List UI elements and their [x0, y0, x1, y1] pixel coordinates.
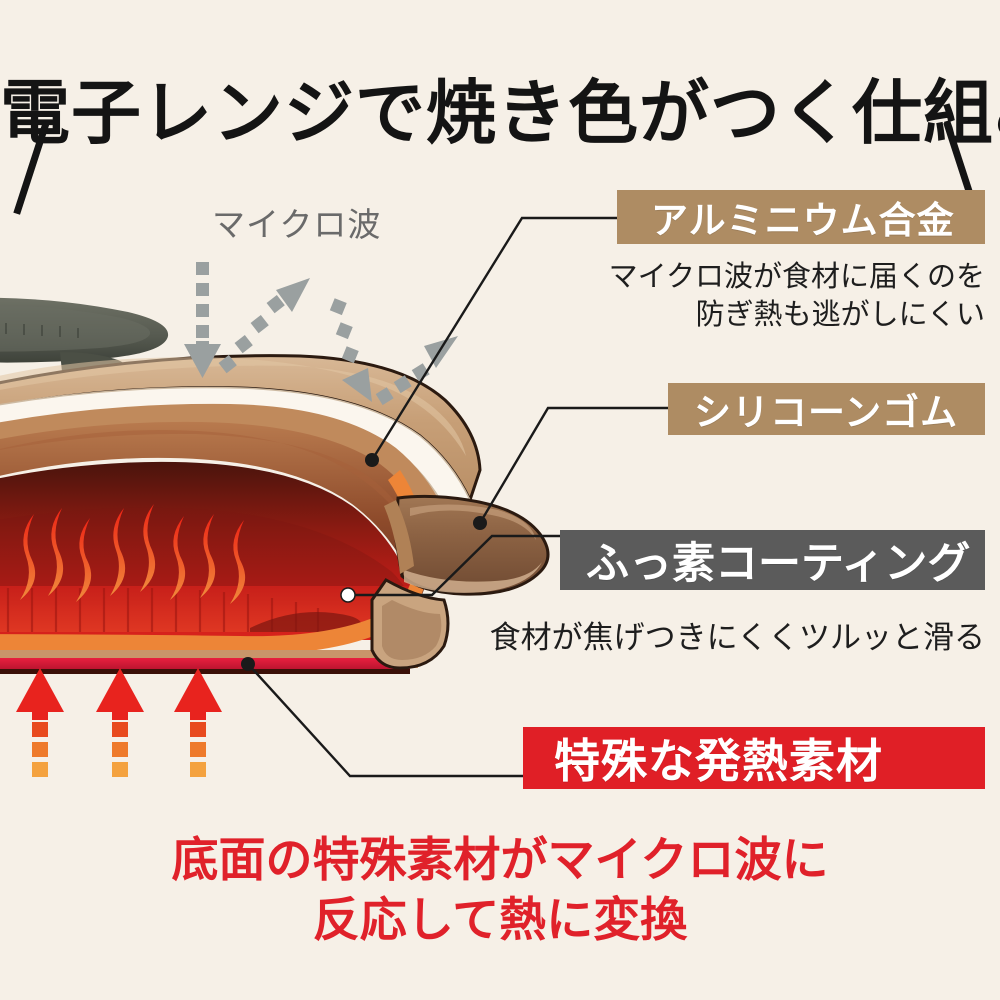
callout-description-aluminum-line1: マイクロ波が食材に届くのを — [609, 258, 985, 296]
bottom-caption: 底面の特殊素材がマイクロ波に 反応して熱に変換 — [0, 830, 1000, 950]
callout-bar-fluorine: ふっ素コーティング — [560, 530, 985, 590]
leader-dot-heating — [241, 657, 255, 671]
callout-label-fluorine: ふっ素コーティング — [586, 529, 970, 591]
callout-description-fluorine-line1: 食材が焦げつきにくくツルッと滑る — [490, 619, 985, 657]
infographic-canvas: 電子レンジで焼き色がつく仕組み — [0, 0, 1000, 1000]
leader-dot-silicone — [473, 516, 487, 530]
bottom-caption-line1: 底面の特殊素材がマイクロ波に — [0, 830, 1000, 890]
leader-line-silicone — [480, 408, 676, 523]
callout-label-aluminum: アルミニウム合金 — [651, 190, 955, 244]
callout-description-aluminum: マイクロ波が食材に届くのを 防ぎ熱も逃がしにくい — [609, 258, 985, 334]
callout-description-aluminum-line2: 防ぎ熱も逃がしにくい — [609, 296, 985, 334]
leader-line-aluminum — [372, 218, 624, 460]
leader-dot-fluorine — [341, 588, 355, 602]
callout-label-heating-material: 特殊な発熱素材 — [554, 725, 883, 791]
bottom-caption-line2: 反応して熱に変換 — [0, 890, 1000, 950]
leader-dot-aluminum — [365, 453, 379, 467]
callout-bar-heating-material: 特殊な発熱素材 — [523, 727, 985, 789]
callout-bar-silicone: シリコーンゴム — [668, 383, 985, 435]
leader-line-heating — [248, 664, 528, 776]
callout-bar-aluminum: アルミニウム合金 — [617, 190, 985, 244]
callout-description-fluorine: 食材が焦げつきにくくツルッと滑る — [490, 619, 985, 657]
leader-line-fluorine — [348, 536, 566, 595]
callout-label-silicone: シリコーンゴム — [694, 382, 958, 436]
